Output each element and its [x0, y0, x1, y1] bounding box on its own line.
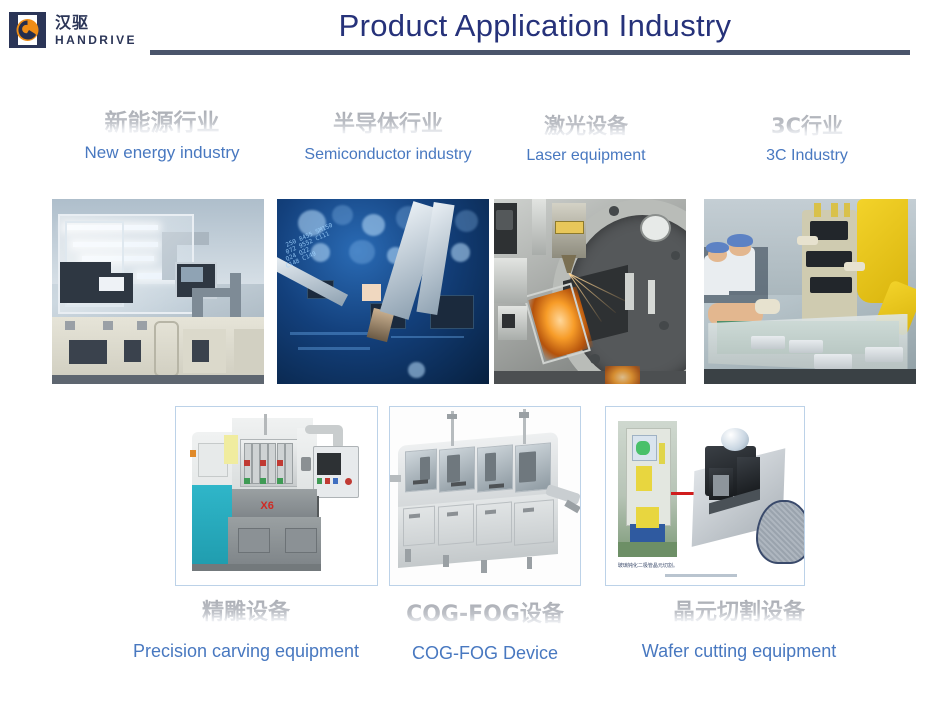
label-semiconductor-cn: 半导体行业: [288, 110, 488, 140]
new-energy-production-line-photo: [52, 199, 264, 384]
label-3c-en: 3C Industry: [712, 145, 902, 167]
label-semiconductor: 半导体行业 Semiconductor industry: [288, 110, 488, 166]
machine-model-marking: X6: [260, 500, 273, 512]
page-header: 汉驱 HANDRIVE Product Application Industry: [0, 0, 935, 62]
laser-equipment-photo: [494, 199, 686, 384]
wafer-cutting-equipment-photo: 玻璃钝化二极管晶元切割。: [605, 406, 805, 586]
label-precision-carving-cn: 精雕设备: [115, 598, 377, 628]
brand-logo[interactable]: 汉驱 HANDRIVE: [8, 11, 137, 49]
inset-scrollbar[interactable]: [665, 574, 736, 577]
label-new-energy: 新能源行业 New energy industry: [62, 108, 262, 164]
bottom-category-labels: 精雕设备 Precision carving equipment COG-FOG…: [0, 598, 935, 688]
label-wafer-cutting-en: Wafer cutting equipment: [608, 640, 870, 662]
label-precision-carving: 精雕设备 Precision carving equipment: [115, 598, 377, 662]
label-new-energy-en: New energy industry: [62, 142, 262, 164]
precision-carving-machine-photo: X6: [175, 406, 378, 586]
label-laser-en: Laser equipment: [493, 145, 679, 167]
wafer-photo-caption: 玻璃钝化二极管晶元切割。: [618, 562, 678, 569]
handrive-h-logo-icon: [8, 11, 48, 49]
cog-fog-device-photo: [389, 406, 581, 586]
label-cog-fog: COG-FOG设备 COG-FOG Device: [386, 600, 584, 664]
title-underline-rule: [150, 50, 910, 55]
3c-industry-photo: [704, 199, 916, 384]
page-title: Product Application Industry: [150, 8, 920, 44]
label-cog-fog-en: COG-FOG Device: [386, 642, 584, 664]
label-cog-fog-cn: COG-FOG设备: [386, 600, 584, 630]
label-3c: 3C行业 3C Industry: [712, 111, 902, 167]
label-wafer-cutting: 晶元切割设备 Wafer cutting equipment: [608, 598, 870, 662]
logo-english-name: HANDRIVE: [55, 34, 137, 46]
label-laser-cn: 激光设备: [493, 111, 679, 141]
label-3c-cn: 3C行业: [712, 111, 902, 141]
label-laser: 激光设备 Laser equipment: [493, 111, 679, 167]
semiconductor-pcb-photo: 250 8455 SM150 072 9552 C111 Q24 Q22 C14…: [277, 199, 489, 384]
top-category-labels: 新能源行业 New energy industry 半导体行业 Semicond…: [0, 108, 935, 188]
label-semiconductor-en: Semiconductor industry: [288, 144, 488, 166]
label-precision-carving-en: Precision carving equipment: [115, 640, 377, 662]
logo-chinese-name: 汉驱: [55, 15, 137, 31]
label-wafer-cutting-cn: 晶元切割设备: [608, 598, 870, 628]
label-new-energy-cn: 新能源行业: [62, 108, 262, 138]
